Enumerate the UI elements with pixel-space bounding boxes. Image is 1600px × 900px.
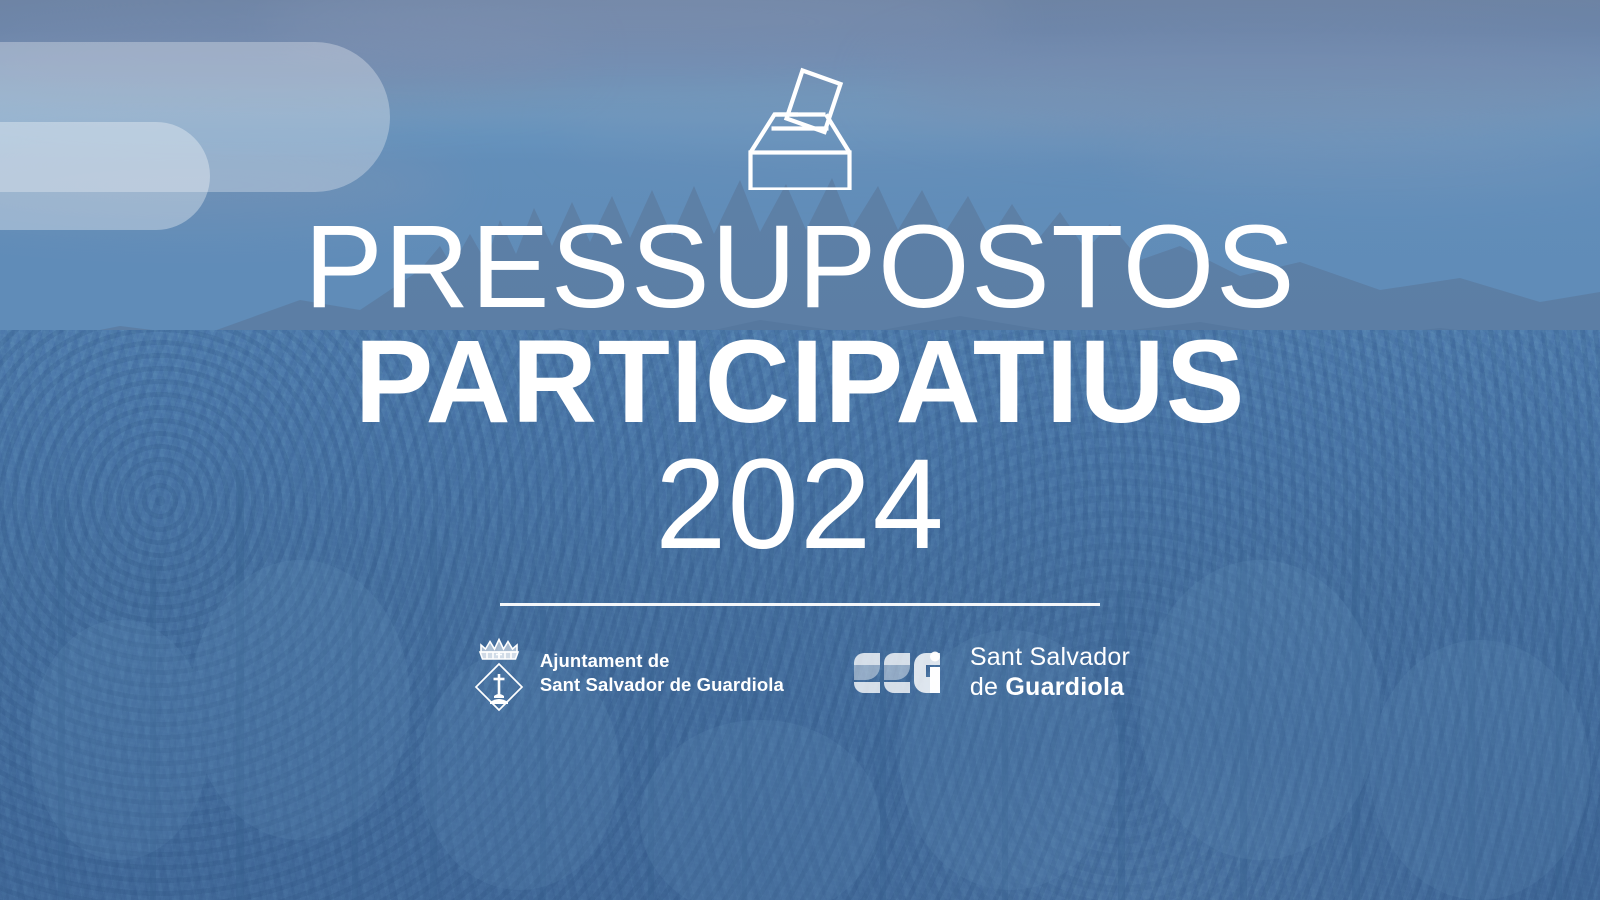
headline-line-1: PRESSUPOSTOS	[304, 212, 1296, 323]
ssg-logo: Sant Salvador de Guardiola	[852, 643, 1130, 702]
crown-and-diamond-crest-icon	[470, 634, 528, 712]
ajuntament-logo: Ajuntament de Sant Salvador de Guardiola	[470, 634, 784, 712]
ssg-line-2-light: de	[970, 673, 1006, 701]
headline-year: 2024	[304, 441, 1296, 569]
ajuntament-line-1: Ajuntament de	[540, 649, 784, 673]
horizontal-divider	[500, 603, 1100, 606]
ajuntament-line-2: Sant Salvador de Guardiola	[540, 673, 784, 697]
ajuntament-logo-text: Ajuntament de Sant Salvador de Guardiola	[540, 649, 784, 696]
poster-headline: PRESSUPOSTOS PARTICIPATIUS 2024	[304, 212, 1296, 569]
poster-canvas: PRESSUPOSTOS PARTICIPATIUS 2024	[0, 0, 1600, 900]
ssg-line-1: Sant Salvador	[970, 643, 1130, 673]
ballot-box-icon	[740, 62, 860, 190]
headline-line-2: PARTICIPATIUS	[304, 323, 1296, 441]
logo-row: Ajuntament de Sant Salvador de Guardiola	[470, 634, 1130, 712]
ssg-line-2-bold: Guardiola	[1005, 673, 1124, 701]
ssg-logo-text: Sant Salvador de Guardiola	[970, 643, 1130, 702]
ssg-monogram-icon	[852, 651, 956, 695]
poster-content: PRESSUPOSTOS PARTICIPATIUS 2024	[0, 0, 1600, 900]
ssg-line-2: de Guardiola	[970, 673, 1130, 703]
